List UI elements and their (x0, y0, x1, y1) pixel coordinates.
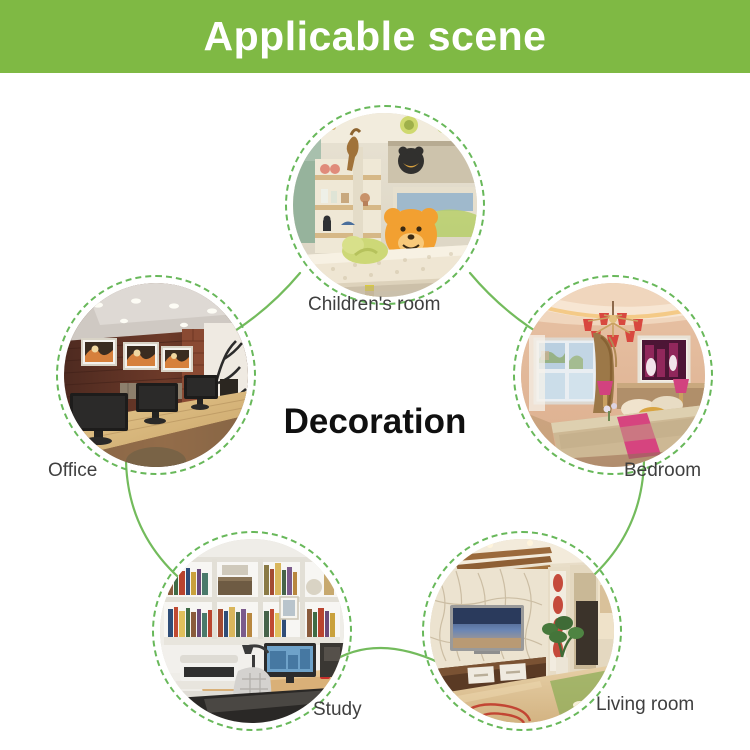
scene-node-office[interactable] (56, 275, 256, 475)
scene-diagram: Decoration (0, 73, 750, 750)
scene-caption-office: Office (48, 461, 97, 480)
applicable-scene-page: Applicable scene Decoration (0, 0, 750, 750)
scene-caption-children-room: Children's room (308, 295, 440, 314)
page-title: Applicable scene (204, 16, 547, 57)
scene-node-bedroom[interactable] (513, 275, 713, 475)
scene-caption-study: Study (313, 700, 362, 719)
scene-caption-living-room: Living room (596, 695, 694, 714)
scene-node-children-room[interactable] (285, 105, 485, 305)
living-room-photo (430, 539, 614, 723)
scene-node-living-room[interactable] (422, 531, 622, 731)
office-photo (64, 283, 248, 467)
header-banner: Applicable scene (0, 0, 750, 73)
study-photo (160, 539, 344, 723)
children-room-photo (293, 113, 477, 297)
bedroom-photo (521, 283, 705, 467)
scene-caption-bedroom: Bedroom (624, 461, 701, 480)
